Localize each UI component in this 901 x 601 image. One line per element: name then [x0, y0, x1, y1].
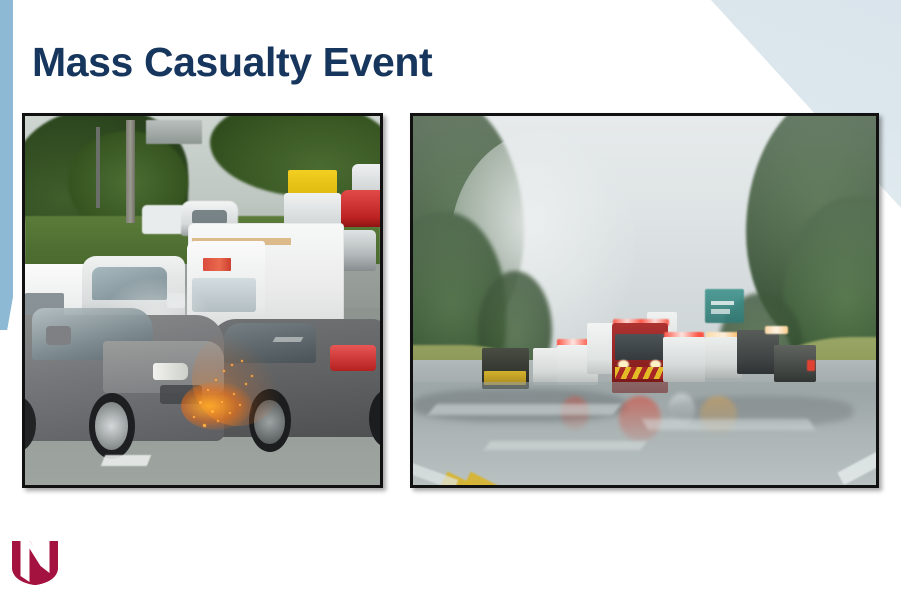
box-truck-logo	[203, 258, 231, 271]
unmc-shield-logo	[10, 540, 60, 586]
light-pole	[96, 127, 100, 208]
red-car	[341, 190, 383, 227]
page-title: Mass Casualty Event	[32, 40, 432, 86]
left-accent-band	[0, 0, 13, 330]
atmospheric-smoke-overlay	[413, 116, 876, 404]
road-dash-far	[272, 337, 303, 342]
road-shine-2	[642, 419, 815, 430]
road-shine-3	[484, 441, 647, 450]
emergency-response-highway-photo	[410, 113, 879, 488]
collision-scene	[25, 116, 380, 485]
road-lane-dash	[101, 455, 152, 466]
yellow-dump-bed	[288, 170, 338, 196]
overhead-sign	[146, 120, 203, 144]
hatchback-taillight	[330, 345, 376, 371]
road-shine-1	[427, 404, 621, 415]
highway-response-scene	[413, 116, 876, 485]
suv-mirror	[46, 326, 71, 344]
multi-vehicle-collision-photo	[22, 113, 383, 488]
slide-canvas: Mass Casualty Event	[0, 0, 901, 601]
spark-particles	[181, 337, 280, 440]
sign-pole	[126, 120, 135, 223]
suv-front-rim	[95, 402, 129, 450]
dump-truck-cab	[284, 193, 341, 226]
